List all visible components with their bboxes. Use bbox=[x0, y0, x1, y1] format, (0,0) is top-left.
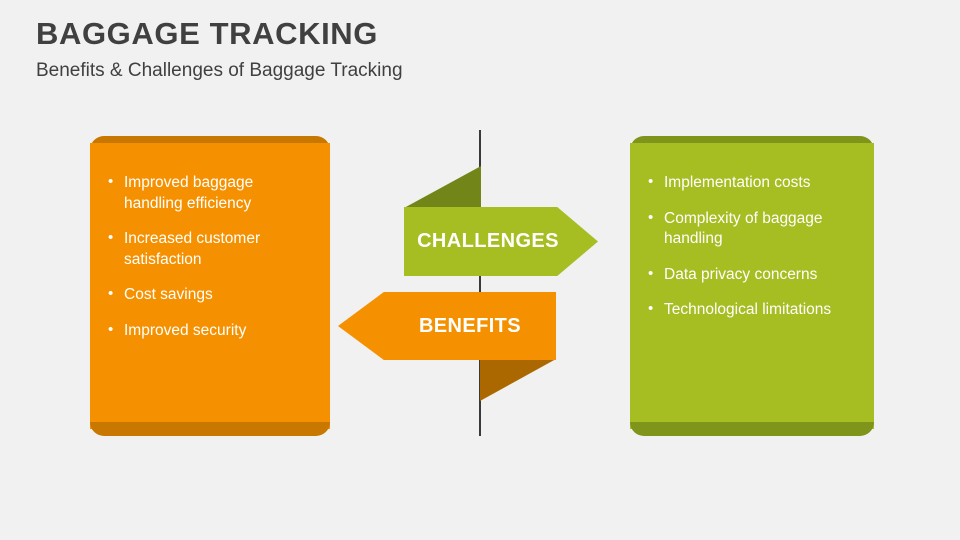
challenges-bullet-list: Implementation costs Complexity of bagga… bbox=[648, 173, 856, 321]
challenges-ribbon-fold bbox=[404, 166, 481, 208]
page-title: BAGGAGE TRACKING bbox=[36, 16, 378, 52]
list-item: Increased customer satisfaction bbox=[108, 229, 312, 270]
benefits-panel: Improved baggage handling efficiency Inc… bbox=[90, 136, 330, 436]
challenges-panel: Implementation costs Complexity of bagga… bbox=[630, 136, 874, 436]
challenges-arrow-label: CHALLENGES bbox=[404, 207, 572, 276]
list-item: Data privacy concerns bbox=[648, 265, 856, 286]
challenges-arrow-right-icon: CHALLENGES bbox=[404, 207, 598, 276]
benefits-bullet-list: Improved baggage handling efficiency Inc… bbox=[108, 173, 312, 342]
benefits-ribbon-fold bbox=[480, 359, 556, 401]
list-item: Cost savings bbox=[108, 285, 312, 306]
list-item: Improved baggage handling efficiency bbox=[108, 173, 312, 214]
list-item: Technological limitations bbox=[648, 300, 856, 321]
challenges-panel-content: Implementation costs Complexity of bagga… bbox=[630, 143, 874, 429]
benefits-arrow-left-icon: BENEFITS bbox=[338, 292, 556, 360]
benefits-arrow-label: BENEFITS bbox=[384, 292, 556, 360]
slide-canvas: BAGGAGE TRACKING Benefits & Challenges o… bbox=[0, 0, 960, 540]
list-item: Improved security bbox=[108, 321, 312, 342]
benefits-panel-content: Improved baggage handling efficiency Inc… bbox=[90, 143, 330, 429]
list-item: Implementation costs bbox=[648, 173, 856, 194]
page-subtitle: Benefits & Challenges of Baggage Trackin… bbox=[36, 60, 403, 82]
list-item: Complexity of baggage handling bbox=[648, 209, 856, 250]
